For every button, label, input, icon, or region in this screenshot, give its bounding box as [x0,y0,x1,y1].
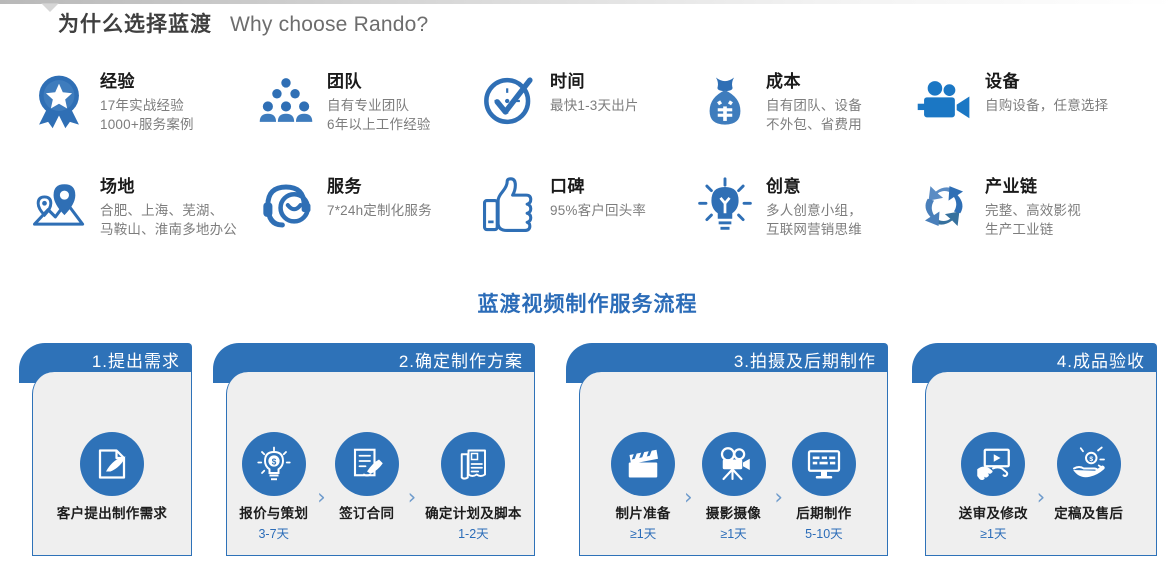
headset-support-icon [255,175,317,237]
clapperboard-icon [611,432,675,496]
video-camera-icon [913,70,975,132]
lightbulb-idea-icon [694,175,756,237]
process-card-4[interactable]: 4.成品验收 送审及修改 ≥1天 [912,343,1157,556]
recycle-arrows-icon [913,175,975,237]
process-step-days: ≥1天 [980,525,1006,543]
process-step[interactable]: 确定计划及脚本 1-2天 [425,432,522,543]
feature-desc: 7*24h定制化服务 [327,201,432,220]
process-card-body: 制片准备 ≥1天 › [579,372,888,556]
process-card-title: 3.拍摄及后期制作 [734,350,876,374]
feature-title: 服务 [327,177,362,196]
process-card-3[interactable]: 3.拍摄及后期制作 [566,343,888,556]
page-title: 为什么选择蓝渡 Why choose Rando? [58,8,428,38]
svg-text:$: $ [271,457,276,466]
feature-title: 团队 [327,72,362,91]
page-title-en: Why choose Rando? [230,13,428,37]
process-card-title: 4.成品验收 [1057,350,1145,374]
hand-deliver-icon: $ [1057,432,1121,496]
feature-title: 经验 [100,72,135,91]
feature-text: 场地 合肥、上海、芜湖、 马鞍山、淮南多地办公 [90,173,237,239]
process-step-days: 1-2天 [458,525,489,543]
page-root: 为什么选择蓝渡 Why choose Rando? 经验 17年实战经验 [0,0,1175,570]
feature-item-experience: 经验 17年实战经验 1000+服务案例 [0,68,240,173]
feature-item-time: 时间 最快1-3天出片 [470,68,688,173]
process-step-days: ≥1天 [720,525,746,543]
feature-item-venue: 场地 合肥、上海、芜湖、 马鞍山、淮南多地办公 [0,173,240,265]
lightbulb-dollar-icon: $ [242,432,306,496]
process-step[interactable]: $ 报价与策划 3-7天 [239,432,308,543]
feature-title: 时间 [550,72,585,91]
process-step-label: 后期制作 [796,505,851,523]
feature-title: 成本 [766,72,801,91]
feature-title: 创意 [766,177,801,196]
process-step-label: 报价与策划 [239,505,308,523]
process-step-label: 定稿及售后 [1054,505,1123,523]
feature-desc: 多人创意小组， 互联网营销思维 [766,201,862,239]
process-step-days: 5-10天 [805,525,843,543]
process-step[interactable]: 客户提出制作需求 [57,432,167,543]
feature-item-service: 服务 7*24h定制化服务 [240,173,470,265]
process-step-label: 摄影摄像 [706,505,761,523]
clock-check-icon [478,70,540,132]
feature-desc: 自有团队、设备 不外包、省费用 [766,96,862,134]
chevron-right-icon: › [408,485,416,509]
contract-sign-icon [335,432,399,496]
feature-text: 团队 自有专业团队 6年以上工作经验 [317,68,431,134]
process-step[interactable]: 后期制作 5-10天 [792,432,856,543]
feature-title: 产业链 [985,177,1038,196]
feature-desc: 95%客户回头率 [550,201,646,220]
feature-item-reputation: 口碑 95%客户回头率 [470,173,688,265]
process-step-days: ≥1天 [630,525,656,543]
feature-title: 设备 [985,72,1020,91]
feature-title: 场地 [100,177,135,196]
page-title-cn: 为什么选择蓝渡 [58,8,212,38]
features-row-1: 经验 17年实战经验 1000+服务案例 [0,68,1175,173]
handshake-screen-icon [961,432,1025,496]
chevron-right-icon: › [684,485,692,509]
money-bag-yen-icon [694,70,756,132]
chevron-right-icon: › [317,485,325,509]
top-notch-triangle-icon [41,3,59,12]
feature-item-team: 团队 自有专业团队 6年以上工作经验 [240,68,470,173]
top-gradient-strip [0,0,1175,4]
process-step[interactable]: $ 定稿及售后 [1054,432,1123,543]
process-section-title: 蓝渡视频制作服务流程 [0,288,1175,318]
process-step-label: 制片准备 [615,505,670,523]
feature-text: 服务 7*24h定制化服务 [317,173,432,220]
feature-desc: 自购设备，任意选择 [985,96,1108,115]
feature-item-equipment: 设备 自购设备，任意选择 [903,68,1163,173]
process-step-label: 签订合同 [339,505,394,523]
process-cards: 1.提出需求 客户提出制作需求 [0,343,1175,558]
process-step-label: 送审及修改 [959,505,1028,523]
feature-text: 设备 自购设备，任意选择 [975,68,1108,115]
monitor-edit-icon [792,432,856,496]
features-grid: 经验 17年实战经验 1000+服务案例 [0,68,1175,265]
process-step-label: 客户提出制作需求 [57,505,167,523]
features-row-2: 场地 合肥、上海、芜湖、 马鞍山、淮南多地办公 服务 [0,173,1175,265]
feature-desc: 自有专业团队 6年以上工作经验 [327,96,431,134]
chevron-right-icon: › [1037,485,1045,509]
process-card-title: 2.确定制作方案 [399,350,523,374]
process-card-body: 送审及修改 ≥1天 › $ [925,372,1157,556]
feature-text: 时间 最快1-3天出片 [540,68,639,115]
process-step[interactable]: 签订合同 [335,432,399,543]
feature-desc: 最快1-3天出片 [550,96,639,115]
process-card-title: 1.提出需求 [92,350,180,374]
svg-text:$: $ [1089,456,1093,463]
feature-desc: 17年实战经验 1000+服务案例 [100,96,194,134]
map-location-pin-icon [28,175,90,237]
feature-text: 成本 自有团队、设备 不外包、省费用 [756,68,862,134]
process-step[interactable]: 摄影摄像 ≥1天 [702,432,766,543]
feature-title: 口碑 [550,177,585,196]
script-documents-icon [441,432,505,496]
feature-desc: 合肥、上海、芜湖、 马鞍山、淮南多地办公 [100,201,237,239]
process-card-body: $ 报价与策划 3-7天 › [226,372,535,556]
feature-text: 经验 17年实战经验 1000+服务案例 [90,68,194,134]
process-step[interactable]: 送审及修改 ≥1天 [959,432,1028,543]
feature-item-industry-chain: 产业链 完整、高效影视 生产工业链 [903,173,1163,265]
process-card-1[interactable]: 1.提出需求 客户提出制作需求 [19,343,192,556]
process-card-2[interactable]: 2.确定制作方案 [213,343,535,556]
process-step[interactable]: 制片准备 ≥1天 [611,432,675,543]
feature-item-creativity: 创意 多人创意小组， 互联网营销思维 [688,173,903,265]
feature-text: 创意 多人创意小组， 互联网营销思维 [756,173,862,239]
chevron-right-icon: › [775,485,783,509]
feature-text: 产业链 完整、高效影视 生产工业链 [975,173,1081,239]
feature-text: 口碑 95%客户回头率 [540,173,646,220]
feature-desc: 完整、高效影视 生产工业链 [985,201,1081,239]
document-pen-icon [80,432,144,496]
award-ribbon-icon [28,70,90,132]
process-card-body: 客户提出制作需求 [32,372,192,556]
thumbs-up-icon [478,175,540,237]
process-step-label: 确定计划及脚本 [425,505,522,523]
movie-camera-icon [702,432,766,496]
feature-item-cost: 成本 自有团队、设备 不外包、省费用 [688,68,903,173]
team-people-icon [255,70,317,132]
process-step-days: 3-7天 [258,525,289,543]
